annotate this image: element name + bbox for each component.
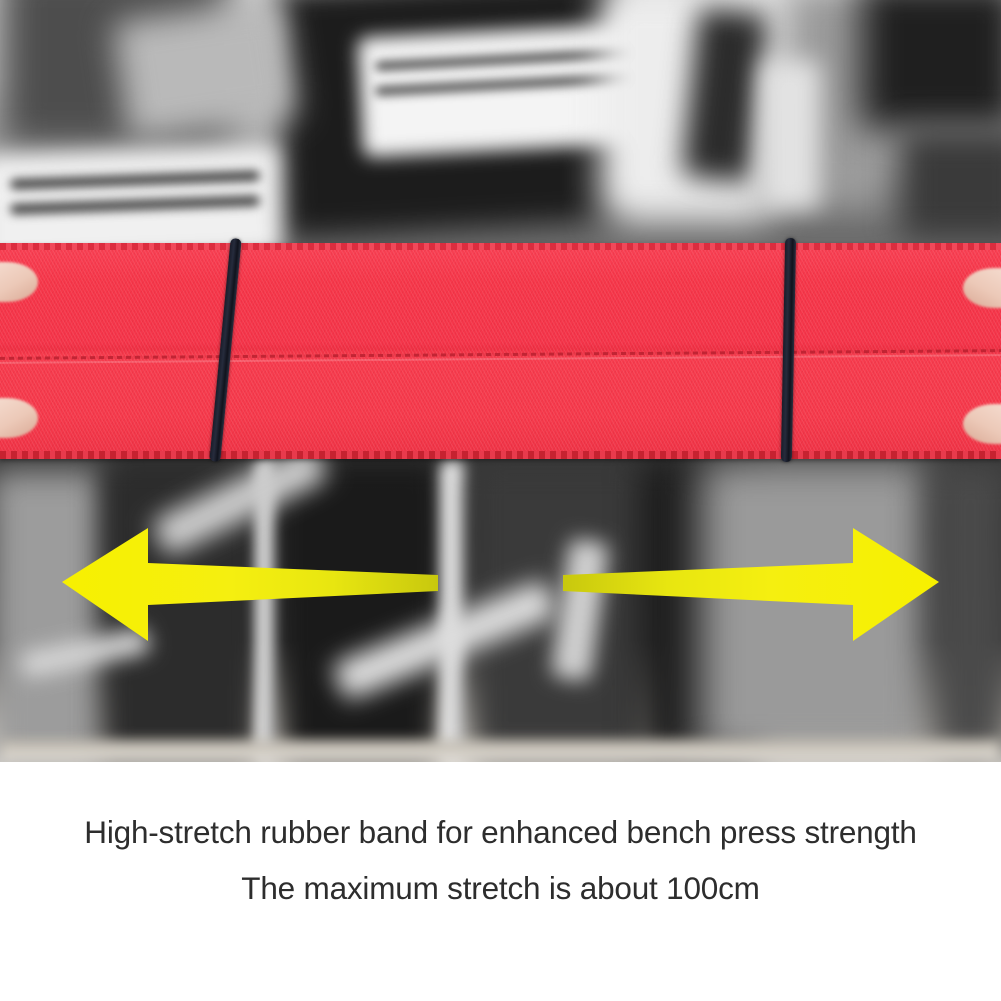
band-edge-bottom (0, 451, 1001, 459)
stretch-arrows (0, 495, 1001, 685)
background-shape-light-strip (760, 60, 820, 210)
background-floor-line (0, 740, 1001, 762)
band-edge-top (0, 243, 1001, 250)
background-shape-dark-corner (860, 0, 1001, 130)
caption-line-1: High-stretch rubber band for enhanced be… (0, 814, 1001, 851)
resistance-band (0, 240, 1001, 462)
left-arrow-icon (62, 528, 438, 641)
background-shape-highlight (112, 0, 297, 141)
caption-line-2: The maximum stretch is about 100cm (0, 870, 1001, 907)
product-image-page: High-stretch rubber band for enhanced be… (0, 0, 1001, 1001)
right-arrow-icon (563, 528, 939, 641)
product-photo (0, 0, 1001, 762)
band-body (0, 243, 1001, 459)
caption-block: High-stretch rubber band for enhanced be… (0, 762, 1001, 1001)
background-shape-dark-block (900, 130, 1001, 240)
